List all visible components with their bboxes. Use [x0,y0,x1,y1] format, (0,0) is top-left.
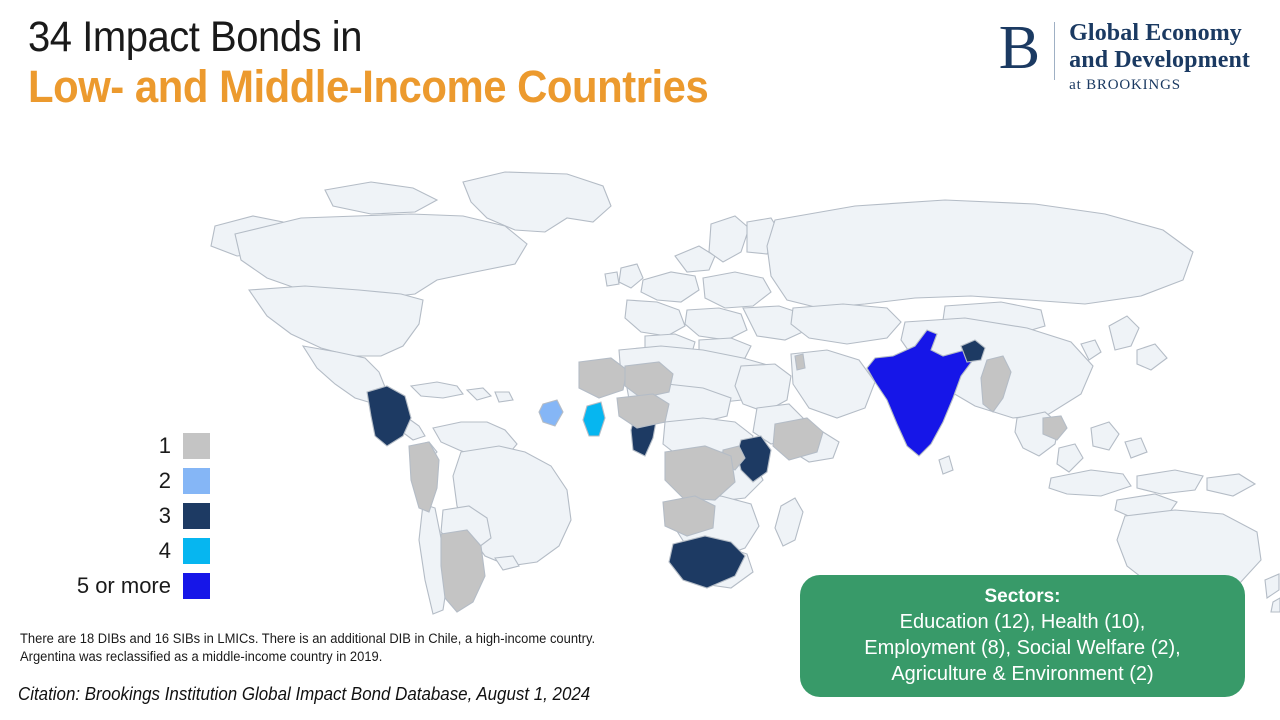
footnote-text: There are 18 DIBs and 16 SIBs in LMICs. … [20,630,596,666]
legend-item-5: 5 or more [0,568,210,603]
country-colombia [367,386,411,446]
sectors-line-2: Employment (8), Social Welfare (2), [864,635,1180,661]
logo-divider [1054,22,1055,80]
legend-item-2: 2 [0,463,210,498]
title-line-primary: 34 Impact Bonds in [28,12,708,62]
country-nigeria [617,394,669,428]
legend-label-2: 2 [159,468,171,494]
logo-line-3: at BROOKINGS [1069,74,1250,96]
legend-label-4: 4 [159,538,171,564]
map-legend: 1 2 3 4 5 or more [0,428,210,603]
sectors-line-1: Education (12), Health (10), [900,609,1146,635]
legend-swatch-5 [183,573,210,599]
legend-label-1: 1 [159,433,171,459]
logo-text: Global Economy and Development at BROOKI… [1069,18,1250,96]
legend-item-3: 3 [0,498,210,533]
citation-text: Citation: Brookings Institution Global I… [18,682,590,706]
legend-item-4: 4 [0,533,210,568]
country-angola [663,496,715,536]
sectors-callout-box: Sectors: Education (12), Health (10), Em… [800,575,1245,697]
country-peru [409,442,439,512]
country-sierra-leone [539,400,563,426]
legend-label-5: 5 or more [77,573,171,599]
country-argentina [441,530,485,612]
country-ghana [583,402,605,436]
sectors-line-3: Agriculture & Environment (2) [891,661,1153,687]
page-title: 34 Impact Bonds in Low- and Middle-Incom… [28,12,760,112]
legend-label-3: 3 [159,503,171,529]
map-svg [175,160,1280,630]
country-palestine [795,354,805,370]
logo-line-2: and Development [1069,47,1250,74]
logo-line-1: Global Economy [1069,20,1250,47]
brookings-logo: B Global Economy and Development at BROO… [999,18,1250,96]
sectors-heading: Sectors: [984,585,1060,609]
legend-item-1: 1 [0,428,210,463]
country-drc [665,446,735,500]
legend-swatch-4 [183,538,210,564]
title-line-secondary: Low- and Middle-Income Countries [28,62,708,112]
brookings-b-mark: B [999,18,1054,78]
legend-swatch-2 [183,468,210,494]
world-choropleth-map [175,160,1280,630]
country-mali [579,358,627,398]
legend-swatch-3 [183,503,210,529]
legend-swatch-1 [183,433,210,459]
